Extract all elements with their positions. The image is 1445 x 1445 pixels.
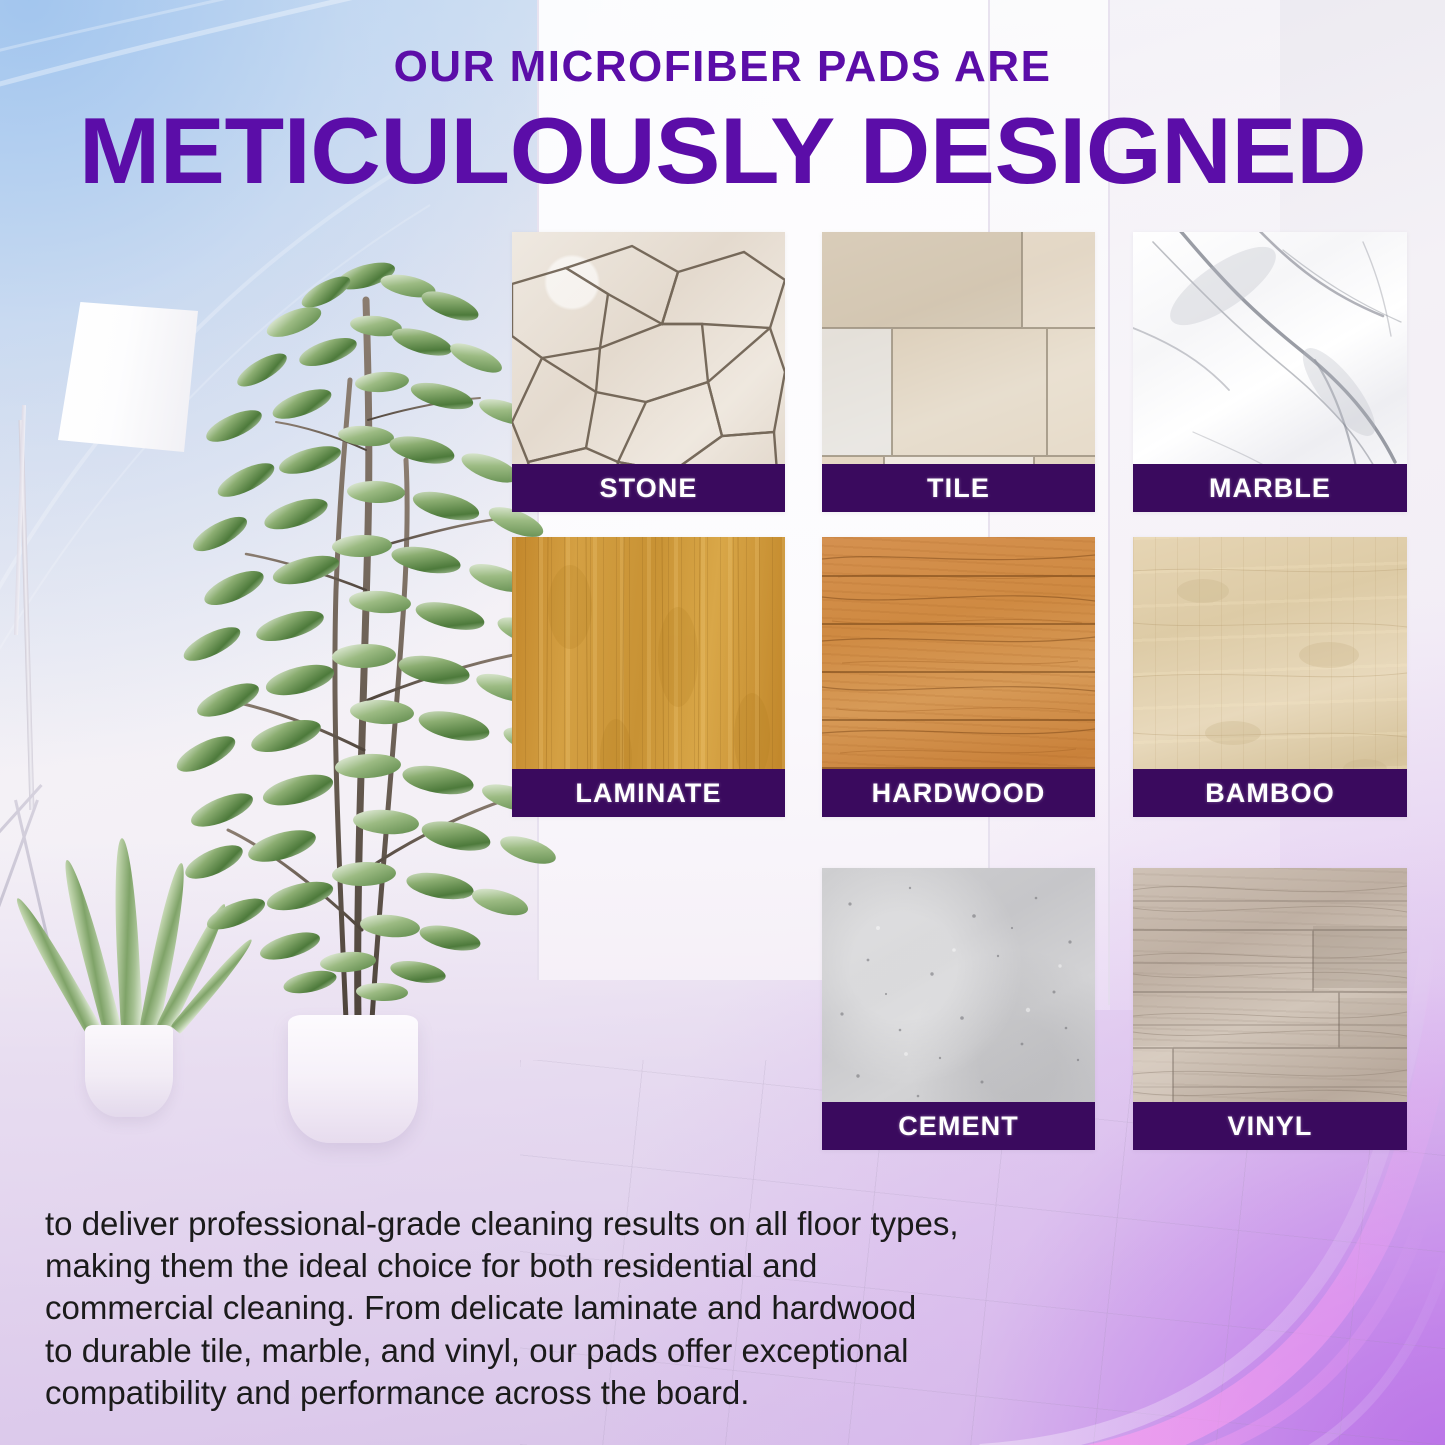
floor-label-bar-tile: TILE (822, 464, 1095, 512)
body-paragraph: to deliver professional-grade cleaning r… (45, 1203, 1105, 1414)
floor-types-grid: STONE (512, 232, 1407, 1152)
floor-label-bar-laminate: LAMINATE (512, 769, 785, 817)
floor-swatch-tile: TILE (822, 232, 1095, 512)
floor-type-card-tile[interactable]: TILE (822, 232, 1095, 512)
plant-leaf (111, 838, 143, 1031)
floor-type-card-stone[interactable]: STONE (512, 232, 785, 512)
floor-label-vinyl: VINYL (1227, 1111, 1312, 1142)
floor-swatch-stone: STONE (512, 232, 785, 512)
floor-swatch-laminate: LAMINATE (512, 537, 785, 817)
floor-swatch-hardwood: HARDWOOD (822, 537, 1095, 817)
body-line-5: compatibility and performance across the… (45, 1372, 1105, 1414)
floor-type-card-bamboo[interactable]: BAMBOO (1133, 537, 1407, 817)
floor-type-card-vinyl[interactable]: VINYL (1133, 868, 1407, 1150)
floor-label-hardwood: HARDWOOD (872, 778, 1046, 809)
room-scene-illustration (0, 230, 540, 1210)
floor-swatch-marble: MARBLE (1133, 232, 1407, 512)
body-line-1: to deliver professional-grade cleaning r… (45, 1203, 1105, 1245)
body-line-3: commercial cleaning. From delicate lamin… (45, 1287, 1105, 1329)
ficus-tree-pot (288, 1015, 418, 1143)
floor-label-bar-vinyl: VINYL (1133, 1102, 1407, 1150)
floor-label-bar-marble: MARBLE (1133, 464, 1407, 512)
ficus-tree-foliage (150, 230, 570, 1050)
page-title: METICULOUSLY DESIGNED (0, 104, 1445, 198)
floor-swatch-vinyl: VINYL (1133, 868, 1407, 1150)
body-line-2: making them the ideal choice for both re… (45, 1245, 1105, 1287)
floor-label-bamboo: BAMBOO (1205, 778, 1335, 809)
floor-label-bar-cement: CEMENT (822, 1102, 1095, 1150)
heading-kicker: OUR MICROFIBER PADS ARE (0, 44, 1445, 90)
page-heading-block: OUR MICROFIBER PADS ARE METICULOUSLY DES… (0, 44, 1445, 198)
floor-label-laminate: LAMINATE (575, 778, 721, 809)
floor-swatch-cement: CEMENT (822, 868, 1095, 1150)
floor-swatch-bamboo: BAMBOO (1133, 537, 1407, 817)
floor-label-tile: TILE (927, 473, 990, 504)
floor-label-stone: STONE (599, 473, 697, 504)
floor-type-card-marble[interactable]: MARBLE (1133, 232, 1407, 512)
body-line-4: to durable tile, marble, and vinyl, our … (45, 1330, 1105, 1372)
floor-label-cement: CEMENT (898, 1111, 1019, 1142)
floor-label-bar-hardwood: HARDWOOD (822, 769, 1095, 817)
floor-label-marble: MARBLE (1209, 473, 1331, 504)
floor-label-bar-stone: STONE (512, 464, 785, 512)
floor-type-card-hardwood[interactable]: HARDWOOD (822, 537, 1095, 817)
floor-label-bar-bamboo: BAMBOO (1133, 769, 1407, 817)
floor-type-card-laminate[interactable]: LAMINATE (512, 537, 785, 817)
floor-type-card-cement[interactable]: CEMENT (822, 868, 1095, 1150)
